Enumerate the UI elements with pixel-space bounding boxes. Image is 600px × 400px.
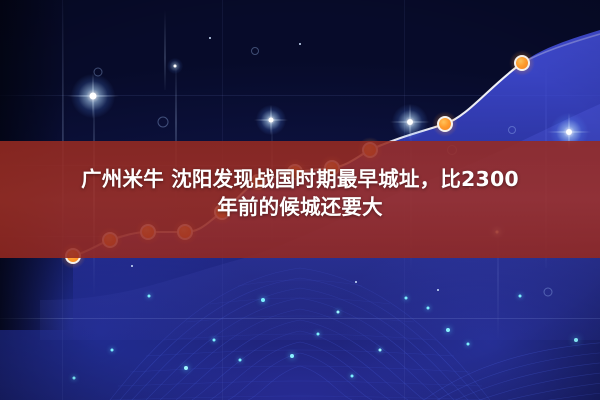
title-line-1: 广州米牛 沈阳发现战国时期最早城址，比2300 <box>0 165 600 193</box>
infographic-canvas: 广州米牛 沈阳发现战国时期最早城址，比2300 年前的候城还要大 <box>0 0 600 400</box>
page-title: 广州米牛 沈阳发现战国时期最早城址，比2300 年前的候城还要大 <box>0 165 600 222</box>
title-line-2: 年前的候城还要大 <box>0 193 600 221</box>
